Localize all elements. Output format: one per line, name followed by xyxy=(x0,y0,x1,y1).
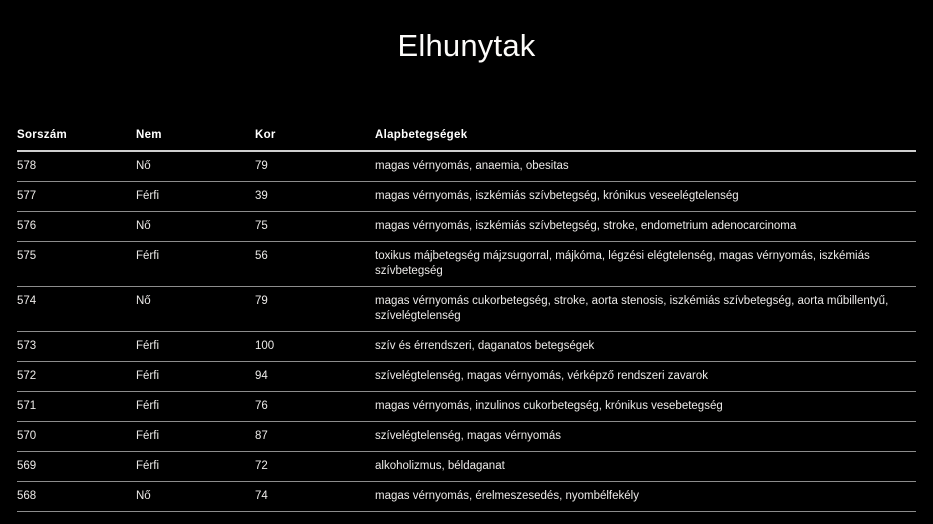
cell-alapbetegsegek: magas vérnyomás, anaemia, obesitas xyxy=(375,151,916,182)
table-row: 578 Nő 79 magas vérnyomás, anaemia, obes… xyxy=(17,151,916,182)
cell-alapbetegsegek: magas vérnyomás, érelmeszesedés, nyombél… xyxy=(375,482,916,512)
deceased-table-container: Sorszám Nem Kor Alapbetegségek 578 Nő 79… xyxy=(17,129,916,512)
cell-nem: Nő xyxy=(136,482,255,512)
cell-alapbetegsegek: magas vérnyomás, inzulinos cukorbetegség… xyxy=(375,392,916,422)
cell-alapbetegsegek: szívelégtelenség, magas vérnyomás xyxy=(375,422,916,452)
table-row: 573 Férfi 100 szív és érrendszeri, dagan… xyxy=(17,332,916,362)
table-row: 568 Nő 74 magas vérnyomás, érelmeszesedé… xyxy=(17,482,916,512)
cell-alapbetegsegek: szív és érrendszeri, daganatos betegsége… xyxy=(375,332,916,362)
cell-alapbetegsegek: magas vérnyomás, iszkémiás szívbetegség,… xyxy=(375,182,916,212)
page-title: Elhunytak xyxy=(0,26,933,66)
cell-nem: Férfi xyxy=(136,332,255,362)
cell-alapbetegsegek: magas vérnyomás, iszkémiás szívbetegség,… xyxy=(375,212,916,242)
cell-alapbetegsegek: szívelégtelenség, magas vérnyomás, vérké… xyxy=(375,362,916,392)
cell-sorszam: 570 xyxy=(17,422,136,452)
cell-sorszam: 569 xyxy=(17,452,136,482)
cell-sorszam: 575 xyxy=(17,242,136,287)
cell-sorszam: 573 xyxy=(17,332,136,362)
cell-sorszam: 574 xyxy=(17,287,136,332)
table-body: 578 Nő 79 magas vérnyomás, anaemia, obes… xyxy=(17,151,916,512)
cell-sorszam: 576 xyxy=(17,212,136,242)
cell-kor: 39 xyxy=(255,182,375,212)
table-row: 572 Férfi 94 szívelégtelenség, magas vér… xyxy=(17,362,916,392)
cell-kor: 87 xyxy=(255,422,375,452)
cell-nem: Férfi xyxy=(136,242,255,287)
cell-alapbetegsegek: toxikus májbetegség májzsugorral, májkóm… xyxy=(375,242,916,287)
table-row: 576 Nő 75 magas vérnyomás, iszkémiás szí… xyxy=(17,212,916,242)
cell-kor: 100 xyxy=(255,332,375,362)
cell-kor: 94 xyxy=(255,362,375,392)
column-header-kor: Kor xyxy=(255,129,375,151)
cell-kor: 72 xyxy=(255,452,375,482)
cell-nem: Nő xyxy=(136,212,255,242)
cell-alapbetegsegek: magas vérnyomás cukorbetegség, stroke, a… xyxy=(375,287,916,332)
column-header-sorszam: Sorszám xyxy=(17,129,136,151)
table-row: 571 Férfi 76 magas vérnyomás, inzulinos … xyxy=(17,392,916,422)
cell-nem: Férfi xyxy=(136,452,255,482)
cell-nem: Férfi xyxy=(136,422,255,452)
cell-nem: Férfi xyxy=(136,392,255,422)
table-row: 570 Férfi 87 szívelégtelenség, magas vér… xyxy=(17,422,916,452)
table-row: 574 Nő 79 magas vérnyomás cukorbetegség,… xyxy=(17,287,916,332)
deceased-table: Sorszám Nem Kor Alapbetegségek 578 Nő 79… xyxy=(17,129,916,512)
cell-sorszam: 578 xyxy=(17,151,136,182)
page-root: Elhunytak Sorszám Nem Kor Alapbetegségek… xyxy=(0,0,933,524)
cell-kor: 75 xyxy=(255,212,375,242)
cell-sorszam: 572 xyxy=(17,362,136,392)
cell-kor: 79 xyxy=(255,287,375,332)
cell-kor: 79 xyxy=(255,151,375,182)
column-header-nem: Nem xyxy=(136,129,255,151)
table-header-row: Sorszám Nem Kor Alapbetegségek xyxy=(17,129,916,151)
cell-kor: 76 xyxy=(255,392,375,422)
cell-nem: Nő xyxy=(136,151,255,182)
cell-nem: Férfi xyxy=(136,362,255,392)
cell-nem: Nő xyxy=(136,287,255,332)
table-row: 577 Férfi 39 magas vérnyomás, iszkémiás … xyxy=(17,182,916,212)
cell-nem: Férfi xyxy=(136,182,255,212)
cell-sorszam: 571 xyxy=(17,392,136,422)
column-header-alapbetegsegek: Alapbetegségek xyxy=(375,129,916,151)
table-header: Sorszám Nem Kor Alapbetegségek xyxy=(17,129,916,151)
table-row: 575 Férfi 56 toxikus májbetegség májzsug… xyxy=(17,242,916,287)
cell-kor: 74 xyxy=(255,482,375,512)
cell-alapbetegsegek: alkoholizmus, béldaganat xyxy=(375,452,916,482)
cell-kor: 56 xyxy=(255,242,375,287)
table-row: 569 Férfi 72 alkoholizmus, béldaganat xyxy=(17,452,916,482)
cell-sorszam: 568 xyxy=(17,482,136,512)
cell-sorszam: 577 xyxy=(17,182,136,212)
